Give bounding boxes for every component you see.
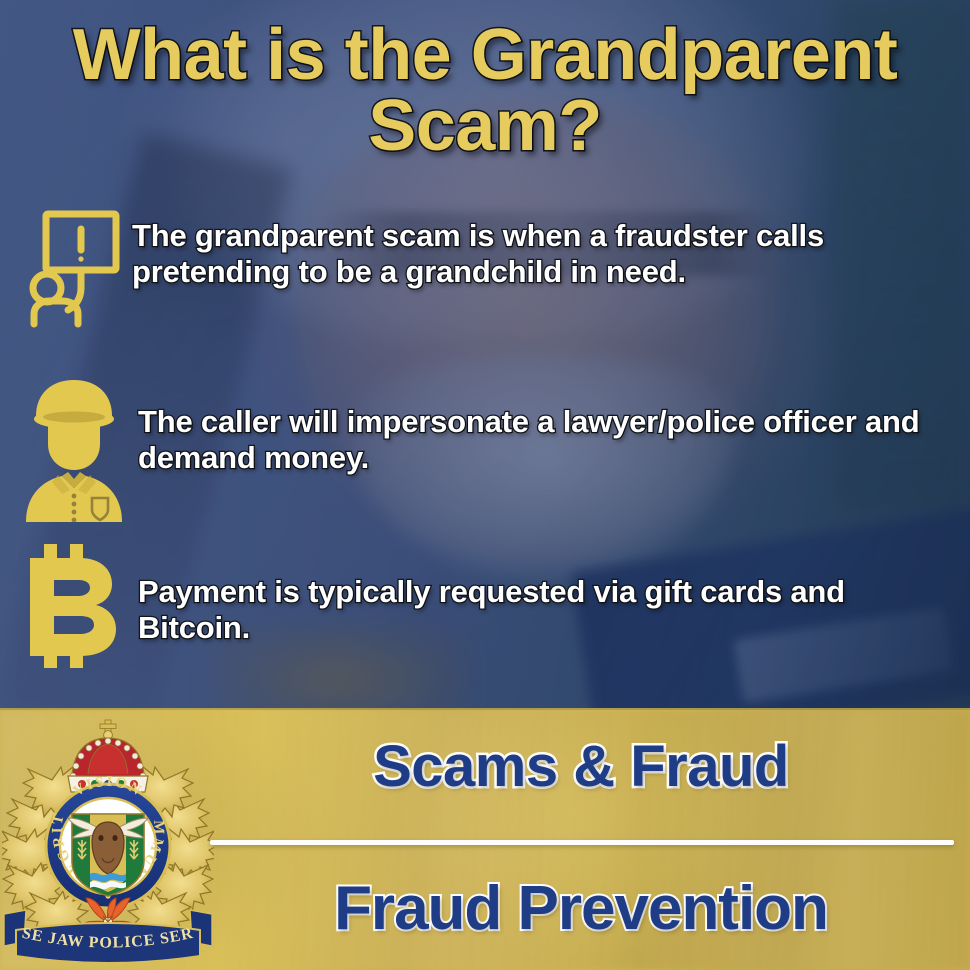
poster-canvas: What is the Grandparent Scam? The grandp… (0, 0, 970, 970)
list-item: Payment is typically requested via gift … (0, 536, 970, 706)
police-officer-icon (16, 366, 132, 522)
list-item-label: The caller will impersonate a lawyer/pol… (132, 366, 970, 476)
bullet-list: The grandparent scam is when a fraudster… (0, 196, 970, 706)
protest-sign-exclamation-icon (16, 196, 132, 330)
list-item: The grandparent scam is when a fraudster… (0, 196, 970, 366)
page-title: What is the Grandparent Scam? (0, 20, 970, 161)
bottom-banner: VISION COMMUNITY INTEGRITY (0, 708, 970, 970)
list-item-label: Payment is typically requested via gift … (132, 536, 970, 646)
bitcoin-icon (16, 536, 132, 670)
list-item: The caller will impersonate a lawyer/pol… (0, 366, 970, 536)
moose-jaw-police-service-crest: VISION COMMUNITY INTEGRITY (2, 714, 214, 970)
banner-text-block: Scams & Fraud Fraud Prevention (208, 710, 954, 970)
banner-subhead: Fraud Prevention (208, 878, 954, 940)
banner-divider (210, 840, 954, 845)
list-item-label: The grandparent scam is when a fraudster… (132, 196, 970, 290)
banner-headline: Scams & Fraud (208, 738, 954, 796)
